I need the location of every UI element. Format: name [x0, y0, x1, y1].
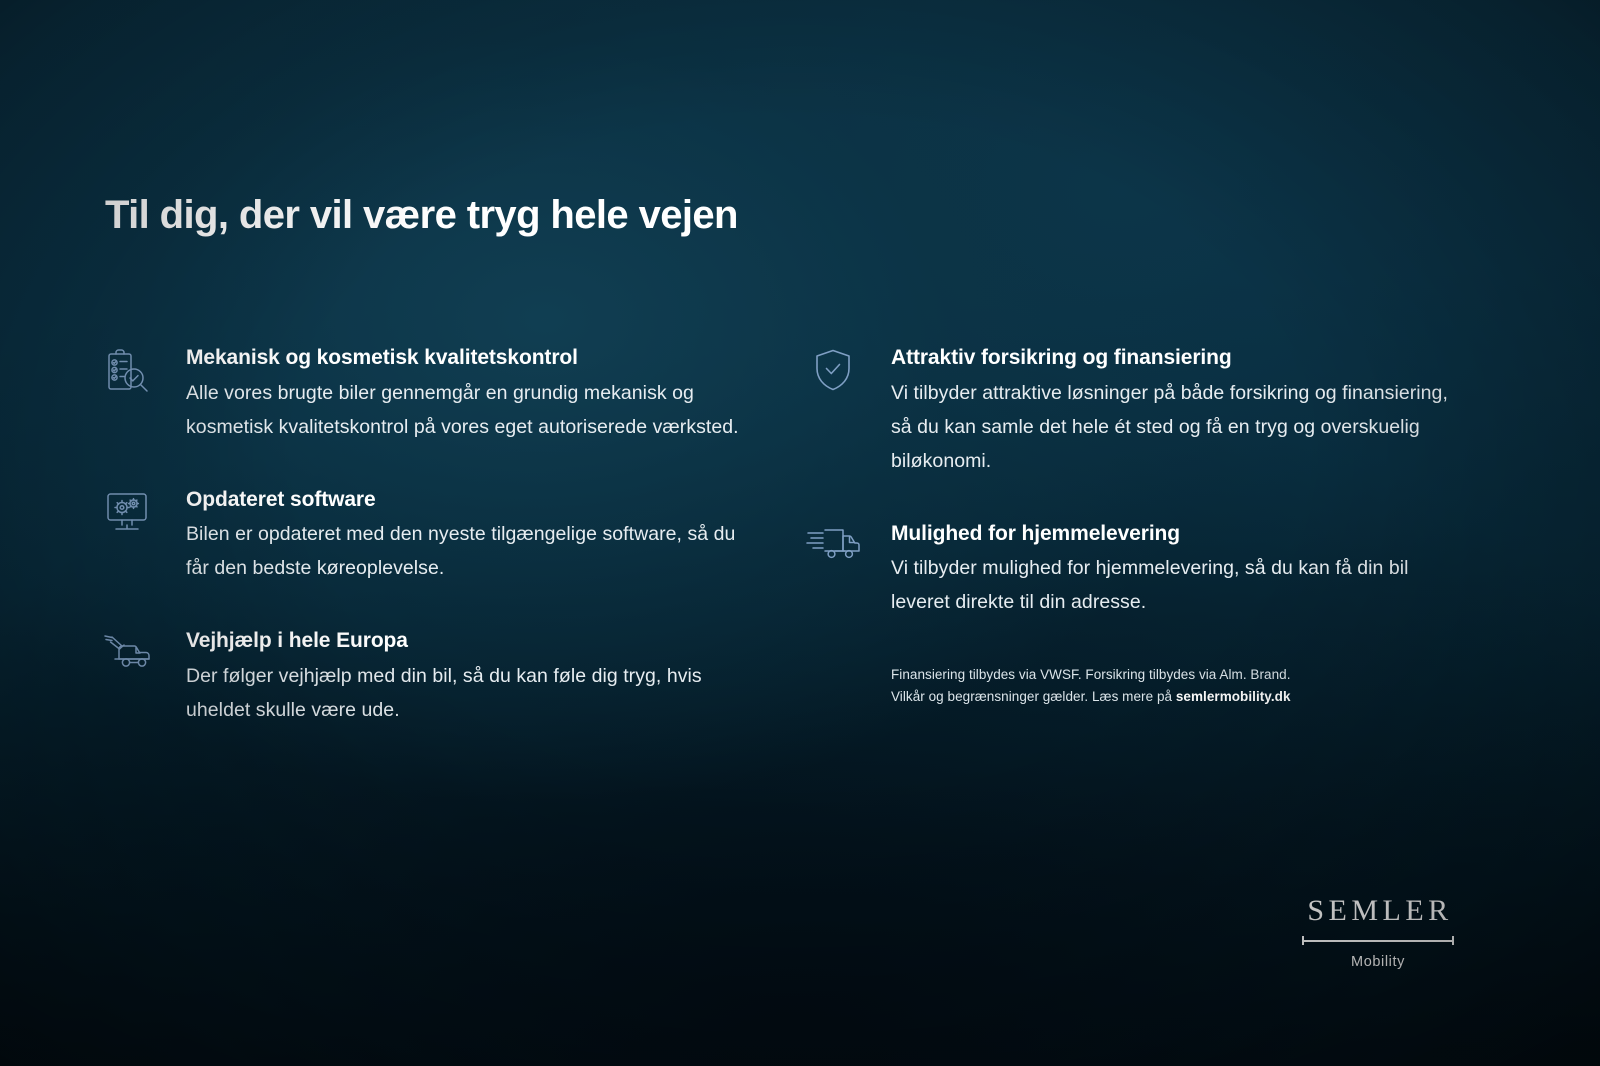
feature-text: Opdateret software Bilen er opdateret me…	[186, 487, 740, 587]
feature-body: Alle vores brugte biler gennemgår en gru…	[186, 377, 740, 445]
feature-item: Mekanisk og kosmetisk kvalitetskontrol A…	[100, 345, 740, 445]
monitor-gears-icon	[100, 487, 156, 535]
feature-item: Mulighed for hjemmelevering Vi tilbyder …	[805, 521, 1465, 621]
feature-body: Vi tilbyder mulighed for hjemmelevering,…	[891, 552, 1465, 620]
logo-rule-bar	[1302, 940, 1454, 942]
logo-wordmark: SEMLER	[1298, 896, 1458, 926]
feature-text: Vejhjælp i hele Europa Der følger vejhjæ…	[186, 628, 740, 728]
shield-check-icon	[805, 345, 861, 393]
feature-heading: Attraktiv forsikring og finansiering	[891, 346, 1465, 371]
feature-column-left: Mekanisk og kosmetisk kvalitetskontrol A…	[100, 345, 740, 728]
feature-column-right: Attraktiv forsikring og finansiering Vi …	[805, 345, 1465, 708]
fineprint-line-2-text: Vilkår og begrænsninger gælder. Læs mere…	[891, 689, 1176, 704]
logo-rule-cap-right	[1452, 936, 1454, 945]
semlermobility-link[interactable]: semlermobility.dk	[1176, 689, 1291, 704]
feature-text: Mulighed for hjemmelevering Vi tilbyder …	[891, 521, 1465, 621]
fineprint-disclaimer: Finansiering tilbydes via VWSF. Forsikri…	[891, 664, 1465, 708]
feature-heading: Mekanisk og kosmetisk kvalitetskontrol	[186, 346, 740, 371]
feature-text: Attraktiv forsikring og finansiering Vi …	[891, 345, 1465, 479]
semler-mobility-logo: SEMLER Mobility	[1298, 896, 1458, 970]
clipboard-checklist-magnifier-icon	[100, 345, 156, 393]
page-title: Til dig, der vil være tryg hele vejen	[105, 193, 738, 238]
logo-divider-rule	[1302, 936, 1454, 945]
poster-canvas: Til dig, der vil være tryg hele vejen Me…	[0, 0, 1600, 1066]
feature-heading: Mulighed for hjemmelevering	[891, 522, 1465, 547]
fineprint-line-2: Vilkår og begrænsninger gælder. Læs mere…	[891, 686, 1465, 708]
feature-item: Vejhjælp i hele Europa Der følger vejhjæ…	[100, 628, 740, 728]
fineprint-line-1: Finansiering tilbydes via VWSF. Forsikri…	[891, 664, 1465, 686]
feature-heading: Opdateret software	[186, 488, 740, 513]
feature-item: Attraktiv forsikring og finansiering Vi …	[805, 345, 1465, 479]
feature-body: Der følger vejhjælp med din bil, så du k…	[186, 660, 740, 728]
feature-item: Opdateret software Bilen er opdateret me…	[100, 487, 740, 587]
tow-truck-icon	[100, 628, 156, 676]
feature-body: Bilen er opdateret med den nyeste tilgæn…	[186, 518, 740, 586]
feature-heading: Vejhjælp i hele Europa	[186, 629, 740, 654]
delivery-truck-icon	[805, 521, 861, 569]
logo-subtitle: Mobility	[1298, 954, 1458, 970]
feature-body: Vi tilbyder attraktive løsninger på både…	[891, 377, 1465, 479]
feature-text: Mekanisk og kosmetisk kvalitetskontrol A…	[186, 345, 740, 445]
